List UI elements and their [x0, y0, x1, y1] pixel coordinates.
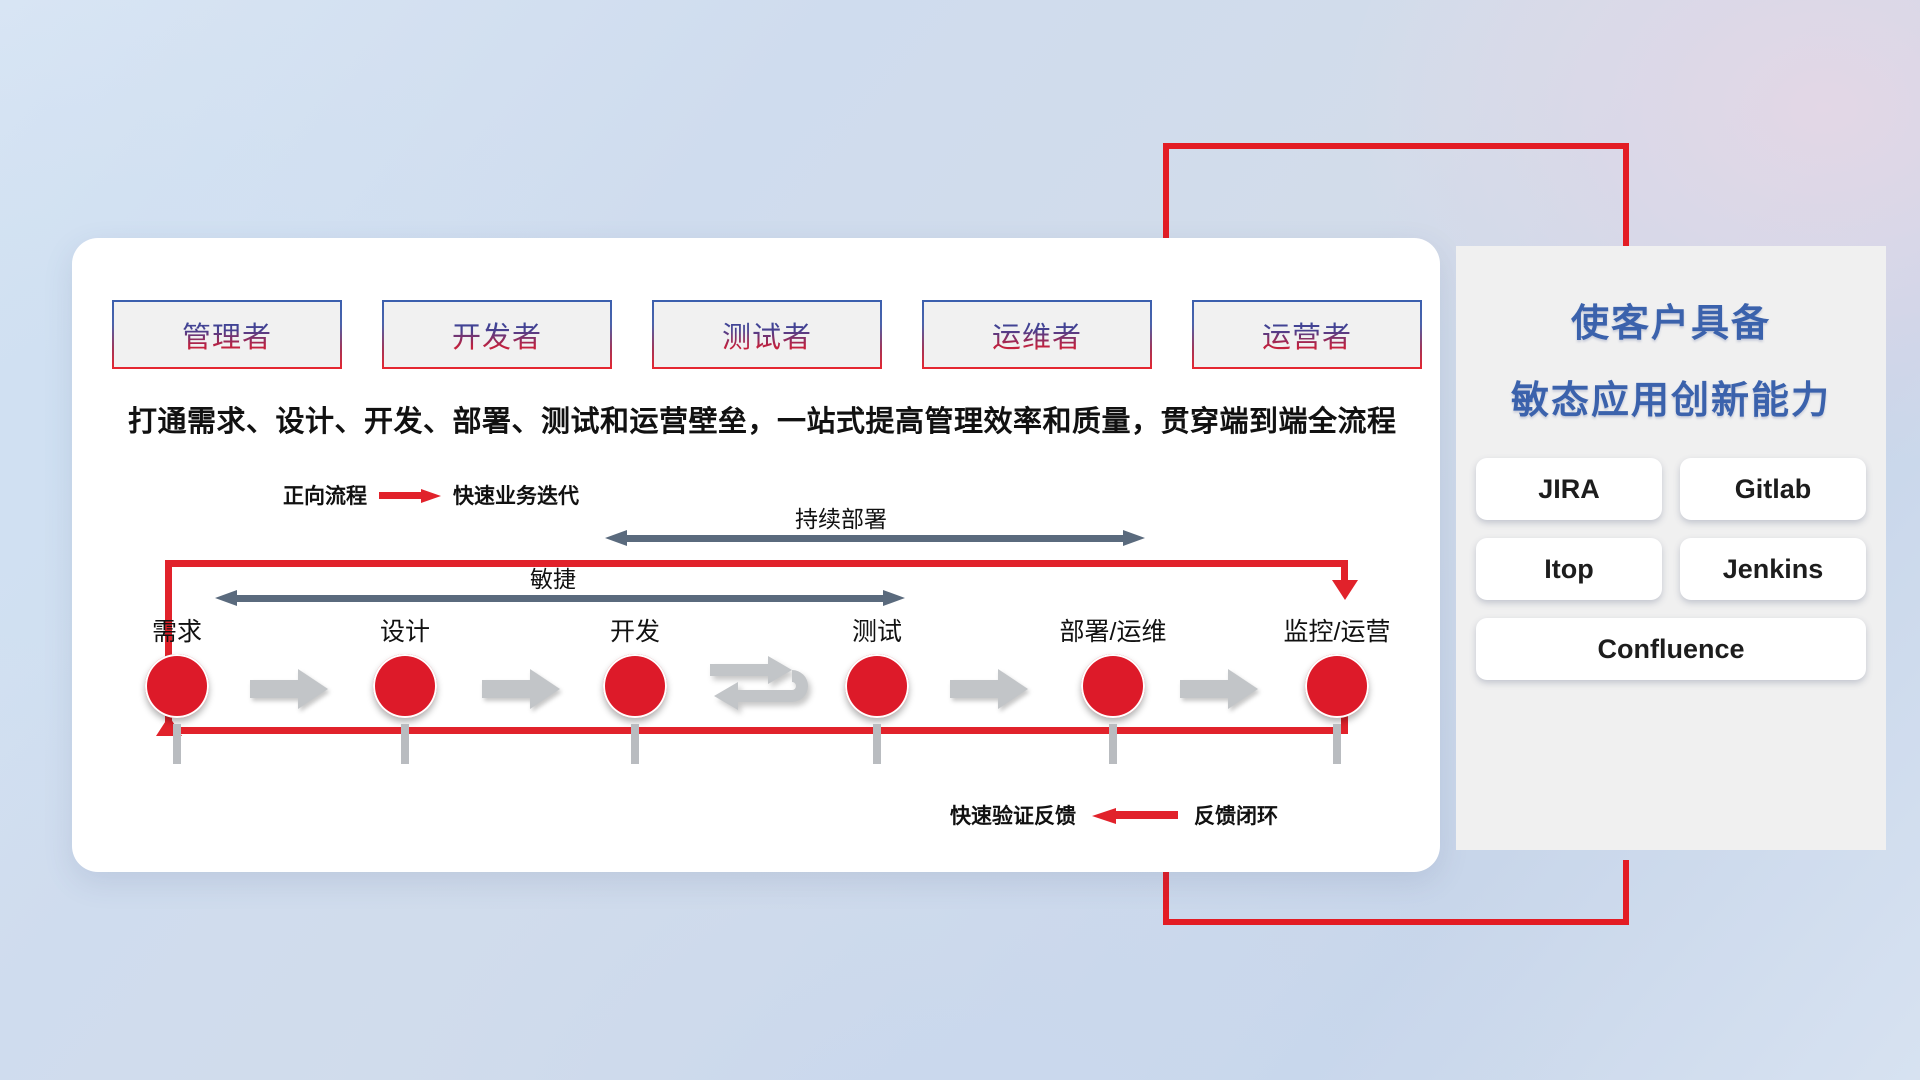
arrow-right-red-icon	[379, 489, 441, 501]
tool-chip-itop[interactable]: Itop	[1476, 538, 1662, 600]
node-label: 需求	[112, 612, 242, 648]
legend-feedback-left-label: 快速验证反馈	[950, 800, 1076, 830]
node-dot-icon	[373, 654, 437, 718]
role-chip-ops[interactable]: 运维者	[922, 300, 1152, 369]
node-label: 部署/运维	[1048, 612, 1178, 648]
arrow-left-red-icon	[1092, 808, 1178, 822]
tool-chip-jira[interactable]: JIRA	[1476, 458, 1662, 520]
legend-forward-right-label: 快速业务迭代	[453, 480, 579, 510]
chevron-right-icon-3	[950, 668, 1028, 710]
pipeline-node-develop[interactable]: 开发	[570, 612, 700, 718]
panel-heading-line1: 使客户具备	[1456, 292, 1886, 347]
tools-panel: 使客户具备 敏态应用创新能力 JIRA Gitlab Itop Jenkins …	[1456, 246, 1886, 850]
role-label: 运维者	[992, 314, 1082, 356]
arrow-agile-icon	[215, 590, 905, 606]
tool-chip-gitlab[interactable]: Gitlab	[1680, 458, 1866, 520]
node-stem	[401, 724, 409, 764]
node-label: 测试	[812, 612, 942, 648]
legend-forward-flow: 正向流程 快速业务迭代	[283, 480, 579, 510]
loop-line-top	[165, 560, 1348, 567]
node-dot-icon	[145, 654, 209, 718]
pipeline-node-deploy-ops[interactable]: 部署/运维	[1048, 612, 1178, 718]
node-dot-icon	[603, 654, 667, 718]
node-stem	[873, 724, 881, 764]
node-dot-icon	[1081, 654, 1145, 718]
chevron-right-icon-4	[1180, 668, 1258, 710]
node-stem	[631, 724, 639, 764]
node-stem	[1109, 724, 1117, 764]
role-label: 测试者	[722, 314, 812, 356]
loop-arrowhead-down-icon	[1332, 580, 1358, 600]
role-label: 管理者	[182, 314, 272, 356]
tool-chip-list: JIRA Gitlab Itop Jenkins Confluence	[1456, 458, 1886, 680]
legend-feedback-right-label: 反馈闭环	[1194, 800, 1278, 830]
pipeline-node-monitor-operate[interactable]: 监控/运营	[1272, 612, 1402, 718]
tool-chip-jenkins[interactable]: Jenkins	[1680, 538, 1866, 600]
node-label: 开发	[570, 612, 700, 648]
arrow-continuous-deploy-icon	[605, 530, 1145, 546]
role-chip-row: 管理者 开发者 测试者 运维者 运营者	[112, 300, 1422, 369]
node-dot-icon	[845, 654, 909, 718]
legend-forward-left-label: 正向流程	[283, 480, 367, 510]
loopback-uturn-icon	[708, 654, 814, 720]
legend-feedback-loop: 快速验证反馈 反馈闭环	[950, 800, 1278, 830]
role-label: 运营者	[1262, 314, 1352, 356]
panel-heading-line2: 敏态应用创新能力	[1456, 369, 1886, 424]
pipeline-node-test[interactable]: 测试	[812, 612, 942, 718]
tool-chip-confluence[interactable]: Confluence	[1476, 618, 1866, 680]
role-chip-manager[interactable]: 管理者	[112, 300, 342, 369]
label-continuous-deploy: 持续部署	[795, 500, 887, 534]
role-chip-operations[interactable]: 运营者	[1192, 300, 1422, 369]
role-label: 开发者	[452, 314, 542, 356]
pipeline-node-design[interactable]: 设计	[340, 612, 470, 718]
pipeline-node-requirement[interactable]: 需求	[112, 612, 242, 718]
node-dot-icon	[1305, 654, 1369, 718]
chevron-right-icon-1	[250, 668, 328, 710]
node-label: 监控/运营	[1272, 612, 1402, 648]
node-stem	[1333, 724, 1341, 764]
slide-canvas: 管理者 开发者 测试者 运维者 运营者 打通需求、设计、开发、部署、测试和运营壁…	[0, 0, 1920, 1080]
headline-text: 打通需求、设计、开发、部署、测试和运营壁垒，一站式提高管理效率和质量，贯穿端到端…	[128, 398, 1418, 440]
node-stem	[173, 724, 181, 764]
role-chip-developer[interactable]: 开发者	[382, 300, 612, 369]
node-label: 设计	[340, 612, 470, 648]
role-chip-tester[interactable]: 测试者	[652, 300, 882, 369]
chevron-right-icon-2	[482, 668, 560, 710]
